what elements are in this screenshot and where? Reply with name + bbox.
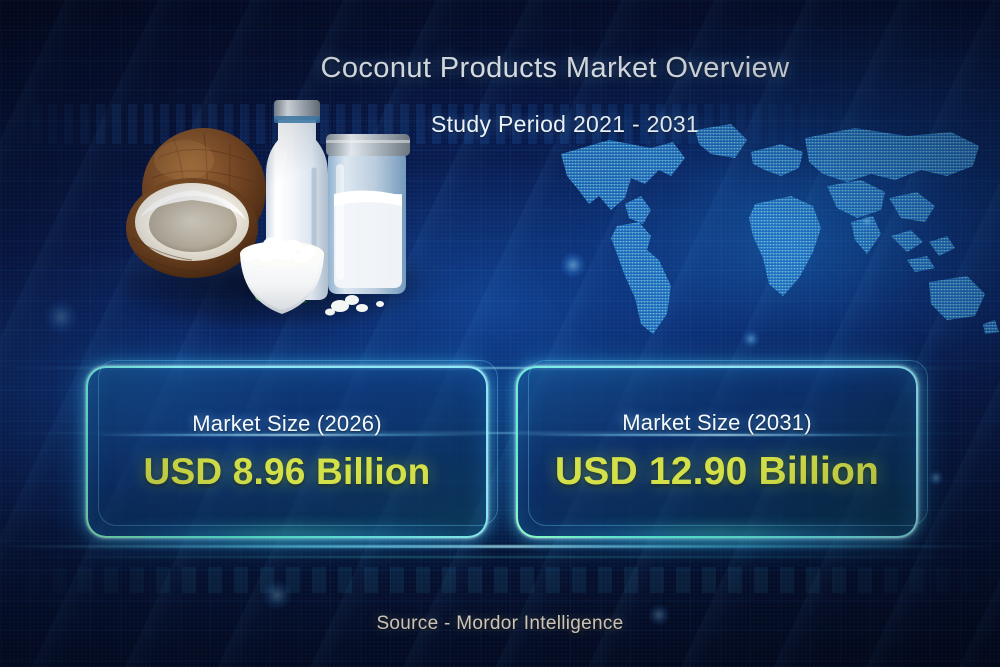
coconut-flakes-bowl [240, 237, 324, 314]
metric-value: USD 12.90 Billion [555, 450, 879, 494]
metric-card-2031[interactable]: Market Size (2031) USD 12.90 Billion [516, 366, 918, 538]
metric-value: USD 8.96 Billion [144, 451, 431, 493]
world-map-graphic [555, 118, 1000, 368]
scattered-flakes [325, 295, 384, 316]
coconut-jar [326, 134, 410, 294]
page-title: Coconut Products Market Overview [0, 52, 1000, 85]
source-attribution: Source - Mordor Intelligence [0, 613, 1000, 635]
metric-cards-container: Market Size (2026) USD 8.96 Billion Mark… [86, 366, 918, 538]
background-data-bars-bottom [0, 567, 1000, 593]
infographic-canvas: Coconut Products Market Overview Study P… [0, 0, 1000, 667]
light-sweep [0, 556, 1000, 558]
metric-card-2026[interactable]: Market Size (2026) USD 8.96 Billion [86, 366, 488, 538]
study-period-subtitle: Study Period 2021 - 2031 [0, 111, 1000, 138]
metric-label: Market Size (2031) [622, 410, 811, 436]
halved-coconut [126, 178, 258, 278]
metric-label: Market Size (2026) [192, 411, 381, 437]
